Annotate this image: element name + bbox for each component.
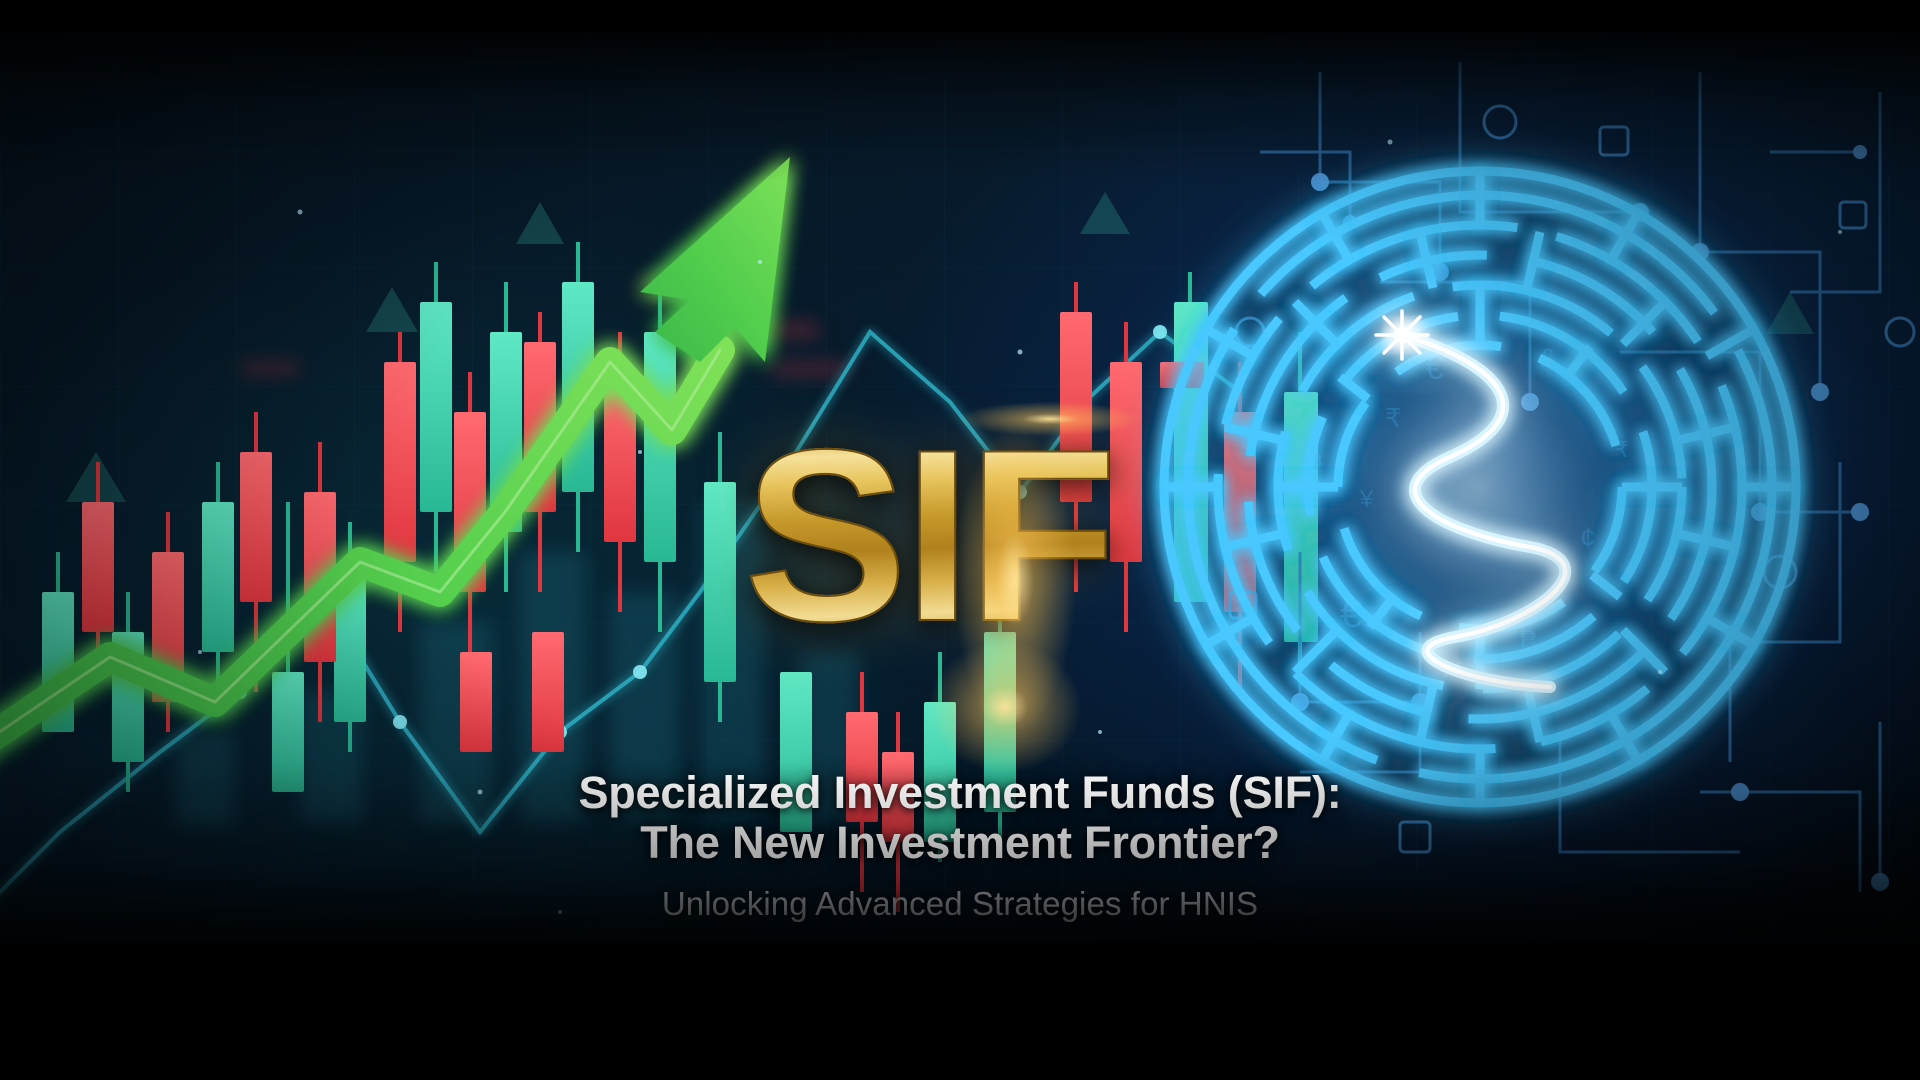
artwork-canvas: € € ₹ £ ¢ ¥ ₱ ₩ ₹ ฿ [0,32,1920,943]
letterbox-bottom [0,943,1920,1080]
sif-wordmark: SIF [744,413,1113,658]
title-card: € € ₹ £ ¢ ¥ ₱ ₩ ₹ ฿ [0,0,1920,1080]
letterbox-top [0,0,1920,32]
